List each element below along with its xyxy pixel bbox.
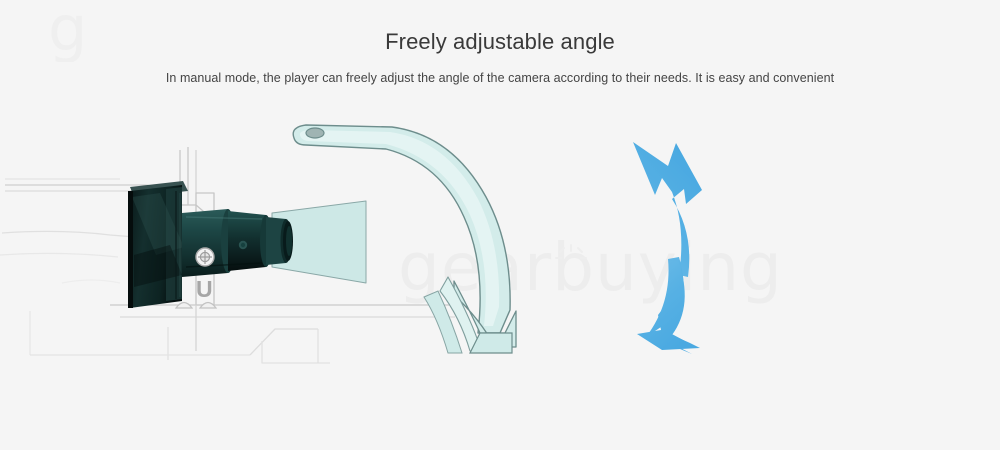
illustration-stage: gearbuying bbox=[0, 105, 1000, 370]
page-title: Freely adjustable angle bbox=[0, 28, 1000, 56]
thumb-screw-icon bbox=[196, 248, 214, 266]
frame-letter-u: U bbox=[196, 276, 213, 302]
page-subtitle: In manual mode, the player can freely ad… bbox=[0, 69, 1000, 87]
mint-tilt-bracket bbox=[272, 125, 516, 353]
camera-mount-illustration: gearbuying bbox=[0, 105, 1000, 370]
product-feature-banner: g Freely adjustable angle In manual mode… bbox=[0, 0, 1000, 450]
